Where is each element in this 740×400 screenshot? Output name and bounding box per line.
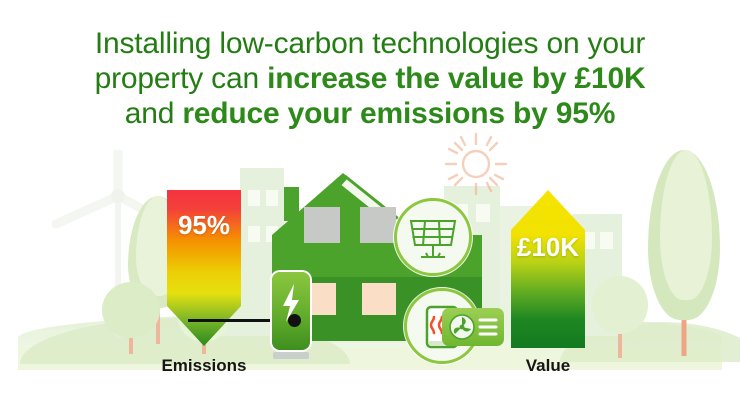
emissions-caption: Emissions [152, 356, 256, 376]
solar-panel-icon [397, 201, 469, 273]
lightning-bolt-icon [272, 272, 310, 350]
headline-line-2: property can increase the value by £10K [0, 61, 740, 96]
tree-icon [648, 150, 720, 355]
value-amount: £10K [496, 232, 600, 263]
heat-pump-icon [442, 308, 504, 346]
value-meter: £10K Value [496, 188, 600, 378]
infographic-canvas: Installing low-carbon technologies on yo… [0, 0, 740, 400]
ev-charger-base [273, 352, 309, 359]
headline-line-2-plain: property can [95, 62, 268, 95]
headline-line-3: and reduce your emissions by 95% [0, 96, 740, 131]
headline-line-2-bold: increase the value by £10K [267, 62, 645, 95]
tree-icon [592, 276, 648, 358]
emissions-value: 95% [152, 210, 256, 241]
headline-line-1: Installing low-carbon technologies on yo… [0, 26, 740, 61]
charger-cable-connector [288, 314, 301, 327]
headline: Installing low-carbon technologies on yo… [0, 26, 740, 131]
heat-pump-icon-badge [442, 308, 504, 346]
value-arrow-shape [496, 188, 600, 350]
headline-line-3-bold: reduce your emissions by 95% [182, 97, 615, 130]
solar-panel-icon-badge [394, 198, 472, 276]
value-caption: Value [496, 356, 600, 376]
emissions-meter: 95% Emissions [152, 188, 256, 378]
headline-line-3-plain: and [125, 97, 183, 130]
